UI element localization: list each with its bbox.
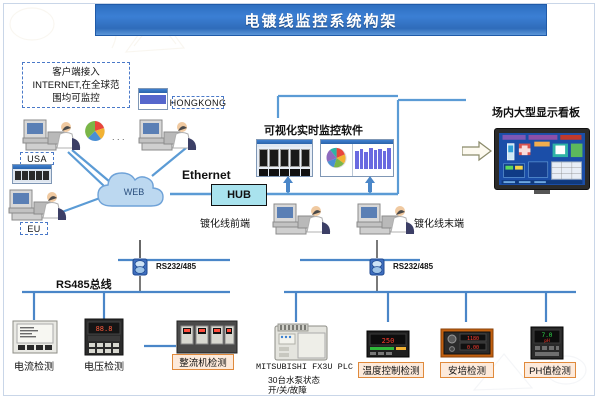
workstation-usa-icon [22, 112, 84, 152]
device-box-5: PH值检测 [524, 362, 576, 378]
workstation-eu-icon [8, 182, 70, 222]
display-board-screen [499, 133, 585, 185]
device-label-4: 安培检测 [448, 363, 486, 377]
workstation-front-icon [272, 196, 334, 236]
device-voltage-icon: 88.8 [84, 318, 124, 356]
svg-text:0.00: 0.00 [467, 345, 479, 351]
display-board-stand [534, 190, 550, 194]
client-tag-usa-label: USA [27, 154, 47, 164]
plc-icon [274, 322, 328, 362]
rs485-bus-label: RS485总线 [56, 276, 112, 292]
hongkong-screen-thumb [138, 88, 168, 110]
svg-text:7.0: 7.0 [542, 332, 553, 339]
software-thumb-charts [320, 139, 394, 177]
arrow-to-board-icon [462, 140, 492, 162]
board-title: 场内大型显示看板 [492, 104, 580, 120]
display-board [494, 128, 590, 190]
clients-ellipsis: . . . [112, 132, 125, 142]
client-tag-eu-label: EU [27, 224, 40, 234]
hub-label: HUB [227, 189, 251, 201]
device-label-3: 温度控制检测 [362, 363, 419, 377]
device-current-icon [12, 320, 58, 354]
usa-pie-thumb [82, 118, 108, 144]
software-thumb-meters [256, 139, 313, 177]
svg-text:1180: 1180 [467, 336, 479, 342]
end-station-label: 镀化线末端 [414, 215, 464, 230]
workstation-hongkong-icon [138, 112, 200, 152]
device-label-1: 电压检测 [84, 358, 124, 373]
device-label-0: 电流检测 [14, 358, 54, 373]
front-station-label: 镀化线前端 [200, 215, 250, 230]
plc-name: MITSUBISHI FX3U PLC [256, 362, 353, 372]
eu-rack-thumb [12, 164, 52, 184]
client-tag-hongkong: HONGKONG [172, 96, 224, 109]
client-note-line2: INTERNET,在全球范 [32, 79, 119, 92]
arrow-up-to-meters [282, 176, 294, 192]
web-cloud-label-hit [92, 168, 176, 214]
device-temperature-icon: 250 [366, 330, 410, 358]
device-ampere-icon: 1180 0.00 [440, 328, 494, 358]
client-note-line3: 围均可监控 [32, 92, 119, 105]
device-label-5: PH值检测 [529, 363, 571, 377]
converter-left-label: RS232/485 [156, 262, 196, 271]
converter-right-label: RS232/485 [393, 262, 433, 271]
hub-node: HUB [211, 184, 267, 206]
workstation-end-icon [356, 196, 418, 236]
ethernet-label: Ethernet [182, 168, 231, 182]
client-note-box: 客户端接入 INTERNET,在全球范 围均可监控 [22, 62, 130, 108]
converter-right-icon [366, 256, 388, 278]
client-tag-eu: EU [20, 222, 48, 235]
plc-detail-line2: 开/关/故障 [268, 384, 307, 396]
svg-text:pH: pH [544, 338, 550, 344]
converter-left-icon [129, 256, 151, 278]
svg-text:88.8: 88.8 [96, 325, 113, 333]
client-note-line1: 客户端接入 [32, 66, 119, 79]
device-ph-icon: 7.0 pH [530, 326, 564, 360]
client-tag-hongkong-label: HONGKONG [170, 98, 227, 108]
device-box-2: 整流机检测 [172, 354, 234, 370]
svg-text:250: 250 [382, 337, 395, 345]
arrow-up-to-charts [364, 176, 376, 192]
device-box-4: 安培检测 [440, 362, 494, 378]
device-label-2: 整流机检测 [179, 355, 227, 369]
device-rectifier-icon [176, 320, 238, 354]
software-title: 可视化实时监控软件 [264, 122, 363, 138]
device-box-3: 温度控制检测 [358, 362, 424, 378]
diagram-canvas: 电镀线监控系统构架 [0, 0, 600, 401]
